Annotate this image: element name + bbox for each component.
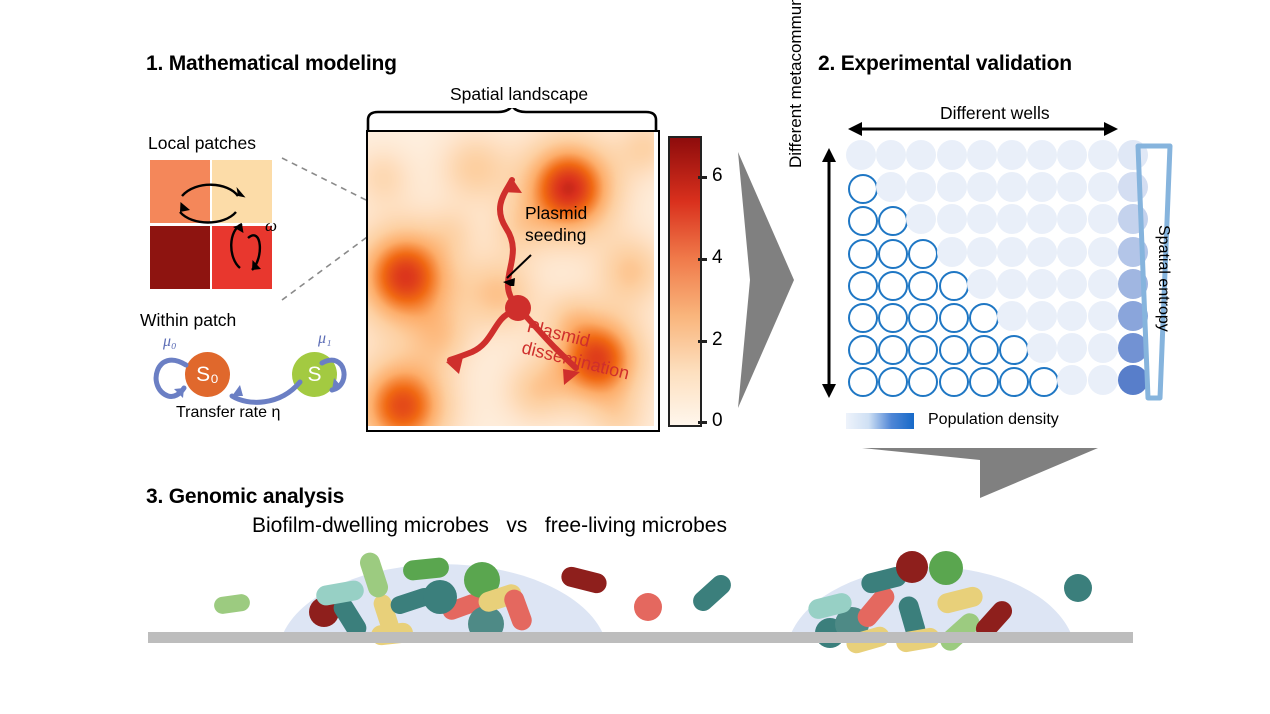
microbe-9 [402, 557, 450, 582]
microbe-16 [559, 565, 608, 596]
microbe-18 [689, 571, 735, 615]
microbe-25 [896, 551, 928, 583]
microbe-32 [1064, 574, 1092, 602]
microbe-17 [634, 593, 662, 621]
microbe-29 [935, 585, 984, 616]
microbe-4 [315, 579, 366, 607]
microbe-15 [501, 587, 534, 633]
microbe-28 [929, 551, 963, 585]
microbe-layer [0, 0, 1270, 714]
substrate-surface [148, 632, 1133, 643]
microbe-1 [213, 593, 251, 615]
microbe-11 [423, 580, 457, 614]
